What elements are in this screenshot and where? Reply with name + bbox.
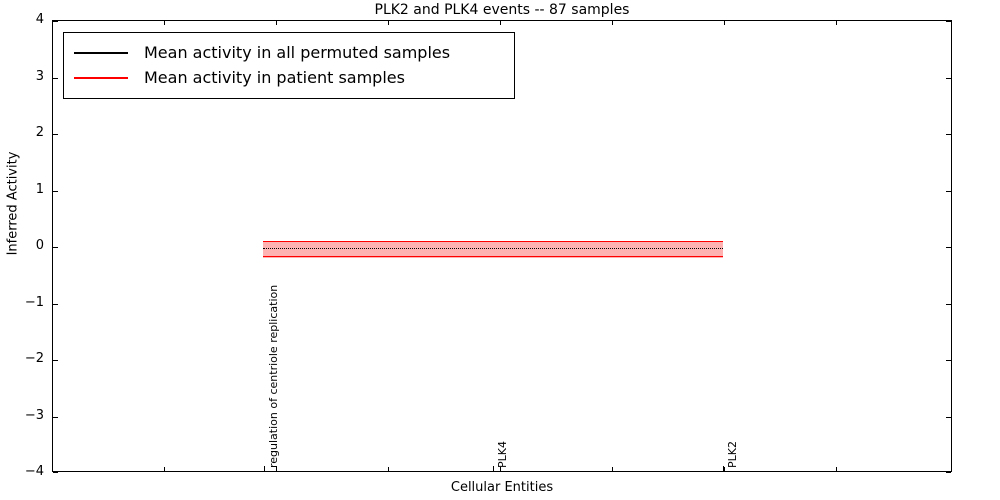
series-line-patient-lower — [263, 256, 723, 257]
xtick-minor-6-top — [724, 21, 725, 25]
ytick-major-neg2-right — [946, 360, 951, 361]
ytick-major-3 — [53, 78, 58, 79]
ytick-major-neg2 — [53, 360, 58, 361]
xtick-minor-1-top — [164, 21, 165, 25]
legend-swatch-red-line-icon — [74, 77, 128, 79]
ytick-major-1 — [53, 191, 58, 192]
xtick-minor-7 — [836, 467, 837, 471]
series-line-patient-upper — [263, 241, 723, 242]
legend-label-permuted: Mean activity in all permuted samples — [144, 43, 450, 62]
ytick-label-neg1: −1 — [0, 295, 44, 310]
ytick-major-0 — [53, 247, 58, 248]
xtick-minor-3-top — [388, 21, 389, 25]
xtick-minor-1 — [164, 467, 165, 471]
ytick-major-0-right — [946, 247, 951, 248]
chart-title: PLK2 and PLK4 events -- 87 samples — [52, 1, 952, 19]
ytick-major-4-right — [946, 21, 951, 22]
xtick-label-cat-1: PLK4 — [497, 441, 508, 468]
xtick-major-cat-1 — [493, 466, 494, 471]
legend-item-patient[interactable]: Mean activity in patient samples — [64, 65, 514, 90]
ytick-major-3-right — [946, 78, 951, 79]
ytick-major-1-right — [946, 191, 951, 192]
xtick-minor-7-top — [836, 21, 837, 25]
legend-label-patient: Mean activity in patient samples — [144, 68, 405, 87]
xtick-major-cat-0 — [264, 466, 265, 471]
x-axis-label: Cellular Entities — [52, 480, 952, 495]
ytick-label-3: 3 — [0, 69, 44, 84]
legend[interactable]: Mean activity in all permuted samples Me… — [63, 32, 515, 99]
plot-area[interactable]: Mean activity in all permuted samples Me… — [52, 20, 952, 472]
xtick-minor-2-top — [276, 21, 277, 25]
ytick-major-4 — [53, 21, 58, 22]
legend-swatch-black-line-icon — [74, 52, 128, 54]
ytick-major-neg1-right — [946, 304, 951, 305]
y-axis-label: Inferred Activity — [6, 124, 21, 284]
series-line-permuted — [263, 248, 723, 249]
xtick-label-cat-0: regulation of centriole replication — [268, 285, 279, 468]
ytick-label-neg4: −4 — [0, 464, 44, 479]
ytick-major-neg3 — [53, 417, 58, 418]
ytick-major-neg3-right — [946, 417, 951, 418]
xtick-label-cat-2: PLK2 — [727, 441, 738, 468]
xtick-minor-4-top — [500, 21, 501, 25]
figure-canvas: PLK2 and PLK4 events -- 87 samples — [0, 0, 1000, 500]
xtick-minor-5 — [612, 467, 613, 471]
xtick-minor-3 — [388, 467, 389, 471]
ytick-label-neg3: −3 — [0, 408, 44, 423]
legend-item-permuted[interactable]: Mean activity in all permuted samples — [64, 40, 514, 65]
xtick-minor-5-top — [612, 21, 613, 25]
ytick-major-neg4-right — [946, 472, 951, 473]
ytick-major-neg4 — [53, 472, 58, 473]
xtick-minor-6 — [724, 467, 725, 471]
ytick-major-2 — [53, 134, 58, 135]
ytick-major-neg1 — [53, 304, 58, 305]
xtick-major-cat-2 — [723, 466, 724, 471]
ytick-label-neg2: −2 — [0, 351, 44, 366]
ytick-major-2-right — [946, 134, 951, 135]
ytick-label-4: 4 — [0, 12, 44, 27]
